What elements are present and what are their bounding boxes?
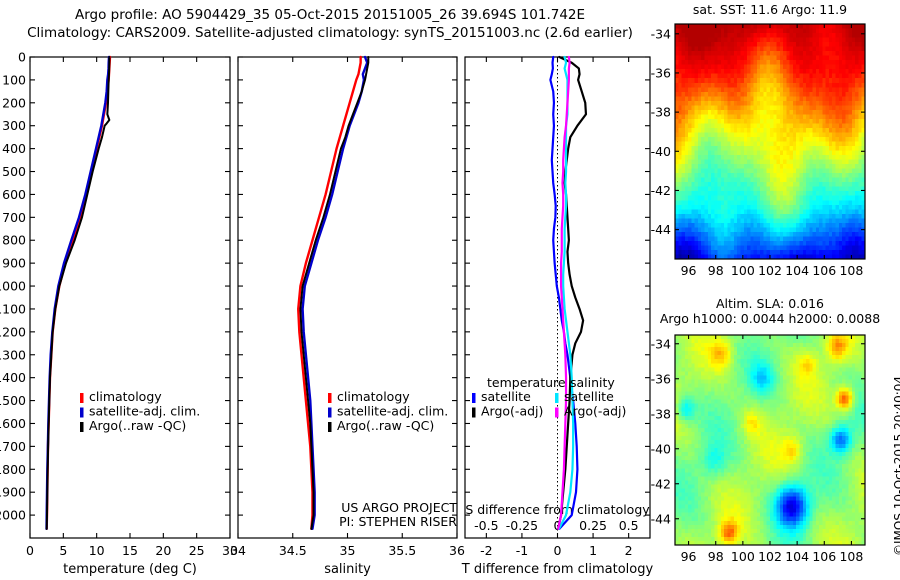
x-tick-label-bottom: 0 bbox=[554, 543, 562, 558]
map-x-tick-label: 100 bbox=[731, 263, 755, 278]
x-axis-label-bottom: T difference from climatology bbox=[461, 562, 654, 577]
map-y-tick-label: -36 bbox=[651, 65, 671, 80]
y-tick-label: 1800 bbox=[0, 462, 26, 477]
map-x-tick-label: 98 bbox=[708, 263, 724, 278]
y-tick-label: 900 bbox=[2, 256, 26, 271]
legend-swatch bbox=[328, 393, 332, 403]
legend-label: climatology bbox=[89, 389, 162, 404]
x-tick-label: 15 bbox=[122, 543, 138, 558]
x-tick-label-top: 0.5 bbox=[619, 518, 639, 533]
y-tick-label: 0 bbox=[18, 50, 26, 65]
map-y-tick-label: -42 bbox=[651, 183, 671, 198]
y-tick-label: 700 bbox=[2, 210, 26, 225]
maps-panel: 9698100102104106108-34-36-38-40-42-44sat… bbox=[655, 0, 900, 580]
map-y-tick-label: -38 bbox=[651, 105, 671, 120]
y-tick-label: 200 bbox=[2, 95, 26, 110]
data-curve bbox=[47, 57, 109, 529]
y-tick-label: 1000 bbox=[0, 279, 26, 294]
x-tick-label: 34.5 bbox=[279, 543, 307, 558]
x-tick-label: 10 bbox=[89, 543, 105, 558]
x-tick-label: 5 bbox=[59, 543, 67, 558]
legend-swatch bbox=[328, 408, 332, 418]
x-tick-label: 34 bbox=[230, 543, 246, 558]
y-tick-label: 1700 bbox=[0, 439, 26, 454]
sst-map-title: sat. SST: 11.6 Argo: 11.9 bbox=[693, 2, 847, 17]
legend-swatch bbox=[80, 422, 84, 432]
legend-swatch bbox=[328, 422, 332, 432]
argo-profile-figure: Argo profile: AO 5904429_35 05-Oct-2015 … bbox=[0, 0, 900, 580]
y-tick-label: 300 bbox=[2, 118, 26, 133]
legend-label: satellite bbox=[564, 389, 614, 404]
legend-swatch bbox=[80, 408, 84, 418]
map-x-tick-label: 108 bbox=[839, 263, 863, 278]
legend-label: Argo(-adj) bbox=[564, 404, 626, 419]
y-tick-label: 1900 bbox=[0, 485, 26, 500]
legend-swatch bbox=[472, 393, 476, 403]
legend-label: satellite-adj. clim. bbox=[337, 404, 448, 419]
map-y-tick-label: -34 bbox=[651, 26, 671, 41]
y-tick-label: 1600 bbox=[0, 416, 26, 431]
map-y-tick-label: -40 bbox=[651, 144, 671, 159]
map-x-tick-label: 104 bbox=[785, 263, 809, 278]
y-tick-label: 1100 bbox=[0, 301, 26, 316]
legend-label: satellite-adj. clim. bbox=[89, 404, 200, 419]
x-tick-label: 35.5 bbox=[388, 543, 416, 558]
x-tick-label-bottom: -2 bbox=[480, 543, 492, 558]
x-tick-label-bottom: 2 bbox=[625, 543, 633, 558]
data-curve bbox=[298, 57, 360, 529]
legend-label: satellite bbox=[481, 389, 531, 404]
legend-swatch bbox=[555, 393, 559, 403]
legend-group-heading: salinity bbox=[570, 375, 615, 390]
sst-heatmap bbox=[675, 24, 866, 260]
x-tick-label: 0 bbox=[26, 543, 34, 558]
x-axis-label: temperature (deg C) bbox=[63, 562, 197, 577]
legend-swatch bbox=[80, 393, 84, 403]
x-tick-label-bottom: -1 bbox=[516, 543, 528, 558]
salinity-panel: 3434.53535.536salinityclimatologysatelli… bbox=[208, 0, 468, 580]
x-tick-label: 35 bbox=[340, 543, 356, 558]
map-y-tick-label: -44 bbox=[651, 222, 671, 237]
plot-frame bbox=[30, 57, 230, 538]
y-tick-label: 400 bbox=[2, 141, 26, 156]
map-x-tick-label: 96 bbox=[681, 263, 697, 278]
x-axis-label: salinity bbox=[324, 562, 371, 577]
x-tick-label-bottom: 1 bbox=[589, 543, 597, 558]
x-tick-label-top: 0.25 bbox=[579, 518, 607, 533]
x-tick-label-top: -0.5 bbox=[474, 518, 498, 533]
map-x-tick-label: 102 bbox=[758, 263, 782, 278]
legend-swatch bbox=[472, 408, 476, 418]
x-tick-label: 25 bbox=[189, 543, 205, 558]
legend-swatch bbox=[555, 408, 559, 418]
x-tick-label: 20 bbox=[155, 543, 171, 558]
legend-label: Argo(..raw -QC) bbox=[89, 418, 186, 433]
legend-group-heading: temperature bbox=[487, 375, 566, 390]
legend-label: Argo(..raw -QC) bbox=[337, 418, 434, 433]
y-tick-label: 1300 bbox=[0, 347, 26, 362]
difference-panel: -2-1012-0.5-0.2500.250.5S difference fro… bbox=[435, 0, 665, 580]
y-tick-label: 1500 bbox=[0, 393, 26, 408]
y-tick-label: 800 bbox=[2, 233, 26, 248]
y-tick-label: 100 bbox=[2, 72, 26, 87]
y-tick-label: 500 bbox=[2, 164, 26, 179]
legend-label: Argo(-adj) bbox=[481, 404, 543, 419]
y-tick-label: 1200 bbox=[0, 324, 26, 339]
sla-heatmap bbox=[675, 335, 866, 546]
y-tick-label: 600 bbox=[2, 187, 26, 202]
map-x-tick-label: 106 bbox=[812, 263, 836, 278]
y-tick-label: 1400 bbox=[0, 370, 26, 385]
x-tick-label-top: -0.25 bbox=[506, 518, 538, 533]
legend-label: climatology bbox=[337, 389, 410, 404]
y-tick-label: 2000 bbox=[0, 508, 26, 523]
